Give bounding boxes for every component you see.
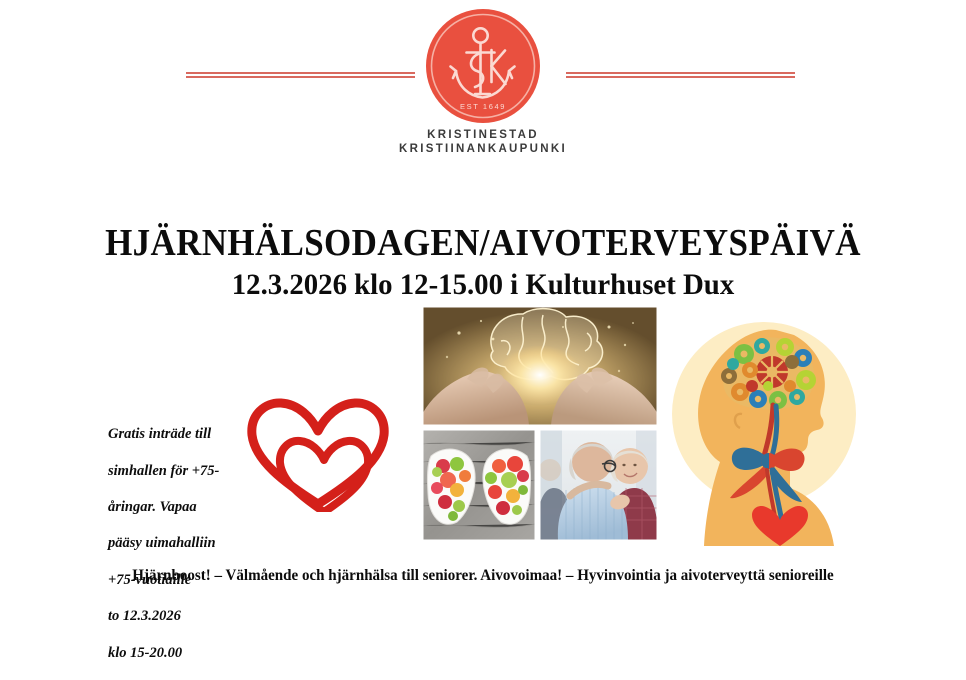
rule-line-top xyxy=(566,72,795,74)
promo-line: to 12.3.2026 xyxy=(108,607,258,625)
promo-line: simhallen för +75- xyxy=(108,462,258,480)
photo-collage xyxy=(423,307,657,540)
promo-line: pääsy uimahalliin xyxy=(108,534,258,552)
footer-tagline: Hjärnboost! – Välmående och hjärnhälsa t… xyxy=(14,566,951,586)
photo-brain-hands-image xyxy=(423,307,657,425)
promo-line: åringar. Vapaa xyxy=(108,498,258,516)
logo-est-text: EST 1649 xyxy=(460,102,506,111)
header-band: EST 1649 KRISTINESTAD KRISTIINANKAUPUNKI xyxy=(0,0,966,170)
logo-wordmark-line1: KRISTINESTAD xyxy=(373,128,593,142)
rule-line-bottom xyxy=(566,76,795,78)
head-silhouette-with-gear-brain-icon xyxy=(672,302,868,546)
promo-line: Gratis inträde till xyxy=(108,425,258,443)
decorative-rule-right xyxy=(566,72,795,78)
logo-wordmark: KRISTINESTAD KRISTIINANKAUPUNKI xyxy=(373,128,593,156)
photo-senior-couple-image xyxy=(540,430,657,540)
promo-line: klo 15-20.00 xyxy=(108,644,258,662)
promo-text-block: Gratis inträde till simhallen för +75- å… xyxy=(108,407,258,680)
poster-subtitle: 12.3.2026 klo 12-15.00 i Kulturhuset Dux xyxy=(19,267,946,303)
poster-title: HJÄRNHÄLSODAGEN/AIVOTERVEYSPÄIVÄ xyxy=(39,221,928,265)
two-overlapping-hearts-icon xyxy=(243,386,393,512)
photo-senior-couple-dancing xyxy=(540,430,657,540)
city-logo: EST 1649 KRISTINESTAD KRISTIINANKAUPUNKI xyxy=(373,8,593,156)
anchor-k-monogram-icon: EST 1649 xyxy=(425,8,541,124)
photo-brain-hands xyxy=(423,307,657,425)
photo-fruit-bowls xyxy=(423,430,535,540)
photo-fruit-bowls-image xyxy=(423,430,535,540)
logo-wordmark-line2: KRISTIINANKAUPUNKI xyxy=(373,142,593,156)
